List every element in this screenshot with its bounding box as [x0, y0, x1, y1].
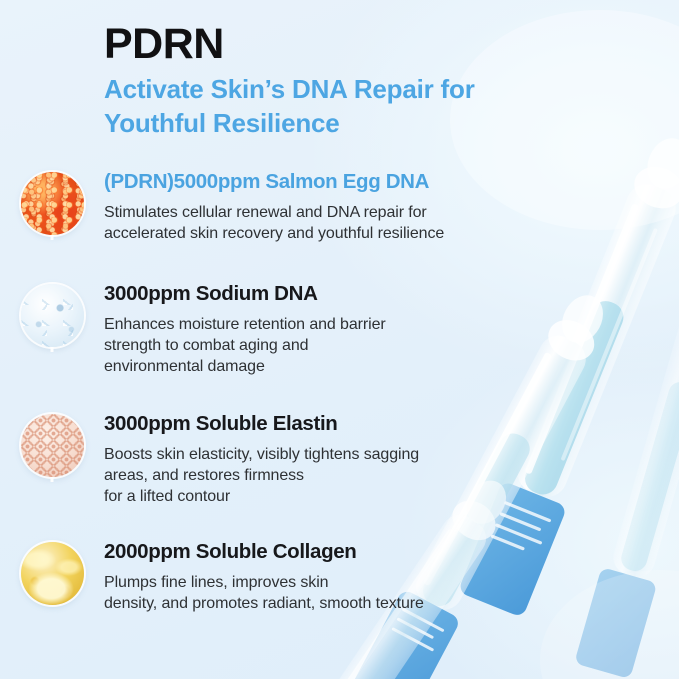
feature-description: Enhances moisture retention and barrier … [104, 314, 386, 377]
feature-text-column: 3000ppm Soluble Elastin Boosts skin elas… [104, 410, 433, 507]
feature-title: 2000ppm Soluble Collagen [104, 540, 424, 565]
golden-droplet-icon [21, 542, 84, 605]
feature-title: 3000ppm Soluble Elastin [104, 412, 419, 437]
brand-title: PDRN [104, 22, 574, 67]
salmon-roe-icon [21, 172, 84, 235]
feature-text-column: (PDRN)5000ppm Salmon Egg DNA Stimulates … [104, 168, 458, 244]
feature-icon-column [0, 410, 104, 477]
feature-item-sodium-dna: 3000ppm Sodium DNA Enhances moisture ret… [0, 280, 679, 410]
skin-cell-texture-icon [21, 414, 84, 477]
feature-icon-column [0, 280, 104, 347]
feature-text-column: 3000ppm Sodium DNA Enhances moisture ret… [104, 280, 400, 377]
connector-dashed-line [51, 347, 54, 353]
brand-subtitle: Activate Skin’s DNA Repair for Youthful … [104, 73, 574, 141]
feature-item-salmon-egg-dna: (PDRN)5000ppm Salmon Egg DNA Stimulates … [0, 168, 679, 280]
feature-item-soluble-collagen: 2000ppm Soluble Collagen Plumps fine lin… [0, 538, 679, 638]
feature-description: Boosts skin elasticity, visibly tightens… [104, 444, 419, 507]
feature-title: 3000ppm Sodium DNA [104, 282, 386, 307]
feature-item-soluble-elastin: 3000ppm Soluble Elastin Boosts skin elas… [0, 410, 679, 538]
feature-icon-column [0, 538, 104, 605]
connector-dashed-line [51, 235, 54, 241]
feature-list: (PDRN)5000ppm Salmon Egg DNA Stimulates … [0, 168, 679, 638]
feature-title: (PDRN)5000ppm Salmon Egg DNA [104, 170, 444, 195]
feature-icon-column [0, 168, 104, 235]
ice-crystal-icon [21, 284, 84, 347]
feature-description: Plumps fine lines, improves skin density… [104, 572, 424, 614]
feature-description: Stimulates cellular renewal and DNA repa… [104, 202, 444, 244]
feature-text-column: 2000ppm Soluble Collagen Plumps fine lin… [104, 538, 438, 614]
header: PDRN Activate Skin’s DNA Repair for Yout… [104, 22, 574, 141]
connector-dashed-line [51, 477, 54, 483]
